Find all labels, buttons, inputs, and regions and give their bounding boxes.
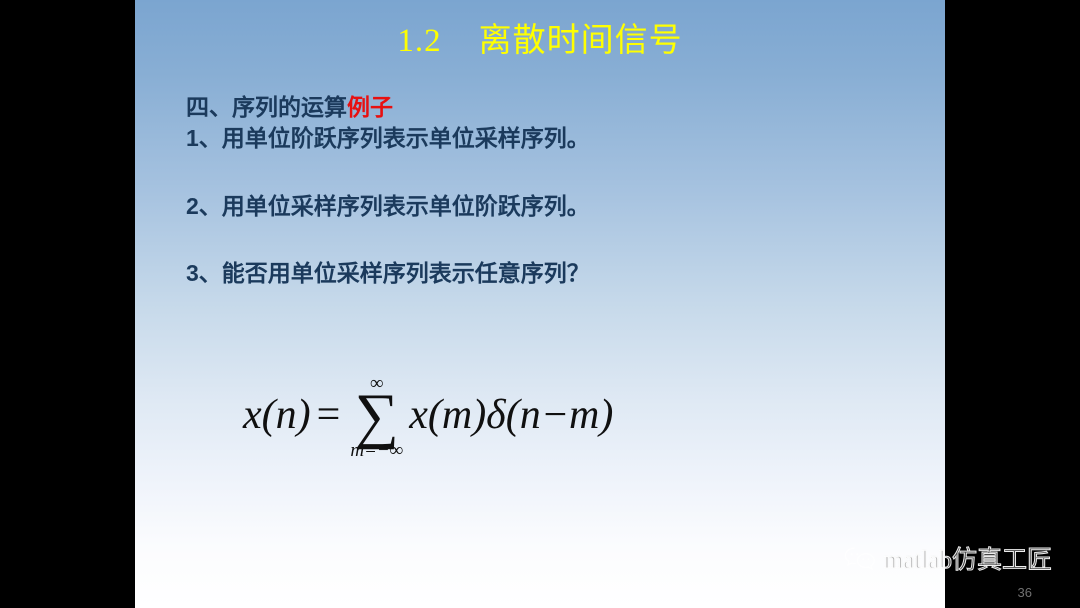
letterbox-bar-left <box>0 0 135 608</box>
list-item: 2、用单位采样序列表示单位阶跃序列。 <box>186 195 886 218</box>
math-formula: x(n)= ∞ ∑ m=−∞ x(m)δ(n−m) <box>243 372 613 458</box>
screenshot-stage: 1.2 离散时间信号 四、序列的运算例子 1、用单位阶跃序列表示单位采样序列。 … <box>0 0 1080 608</box>
formula-equals: = <box>311 391 347 439</box>
list-item: 3、能否用单位采样序列表示任意序列？ <box>186 262 886 285</box>
slide-body: 四、序列的运算例子 1、用单位阶跃序列表示单位采样序列。 2、用单位采样序列表示… <box>186 96 886 285</box>
summation-lower-limit: m=−∞ <box>350 441 403 460</box>
formula-rhs: x(m)δ(n−m) <box>409 391 613 439</box>
body-heading: 四、序列的运算例子 <box>186 96 886 119</box>
sigma-icon: ∑ <box>355 391 399 442</box>
list-spacer-2 <box>186 218 886 262</box>
body-heading-main: 四、序列的运算 <box>186 94 347 120</box>
formula-lhs: x(n) <box>243 391 311 439</box>
list-item: 1、用单位阶跃序列表示单位采样序列。 <box>186 127 886 150</box>
summation-operator: ∞ ∑ m=−∞ <box>350 374 403 460</box>
presentation-slide: 1.2 离散时间信号 四、序列的运算例子 1、用单位阶跃序列表示单位采样序列。 … <box>135 0 945 608</box>
page-number: 36 <box>1018 585 1032 600</box>
slide-title: 1.2 离散时间信号 <box>135 22 945 62</box>
body-heading-accent: 例子 <box>347 94 393 120</box>
list-spacer-1 <box>186 150 886 195</box>
letterbox-bar-right <box>945 0 1080 608</box>
